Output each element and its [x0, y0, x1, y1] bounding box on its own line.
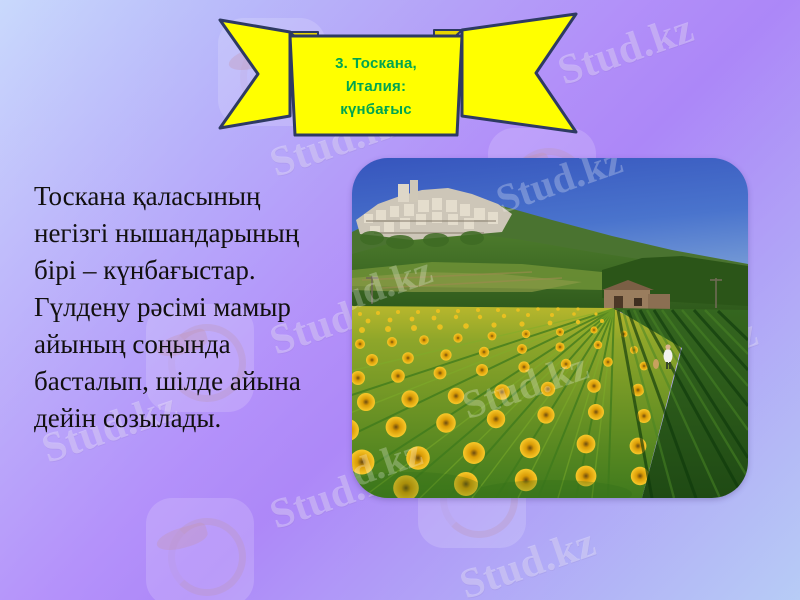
presentation-slide: Stud.kz Stud.kz Stud.kz Stud.kz Stud.kz … [0, 0, 800, 600]
banner-title: 3. Тоскана, Италия: күнбағыс [290, 36, 462, 136]
watermark-text: Stud.kz [454, 519, 602, 600]
watermark-logo-icon [146, 498, 254, 600]
tuscany-sunflower-photo: Stud.kz Stud.kz Stud.kz Stud.kz [352, 158, 748, 498]
banner-title-line: 3. Тоскана, [335, 52, 417, 75]
ribbon-right-wing [462, 14, 576, 132]
banner-title-line: күнбағыс [340, 98, 412, 121]
slide-body-text: Тоскана қаласының негізгі нышандарының б… [34, 178, 340, 437]
photo-illustration [352, 158, 748, 498]
second-figure [653, 359, 659, 369]
ribbon-banner: 3. Тоскана, Италия: күнбағыс [218, 0, 578, 140]
banner-title-line: Италия: [346, 75, 406, 98]
ribbon-left-wing [220, 20, 290, 128]
